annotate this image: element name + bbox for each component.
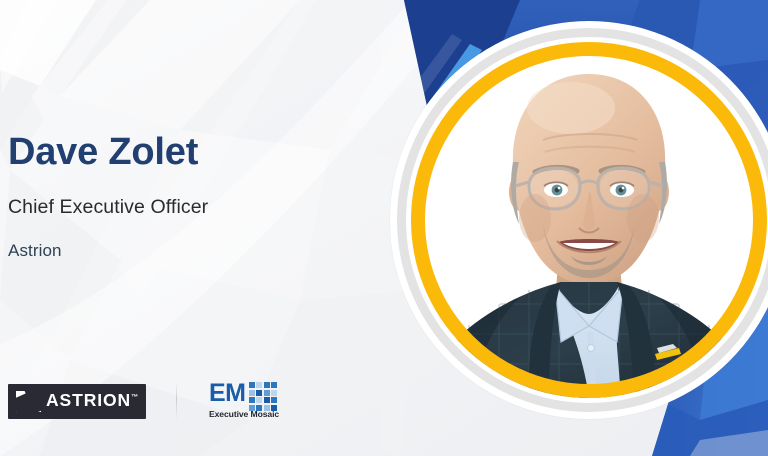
executive-spotlight-card: Dave Zolet Chief Executive Officer Astri…: [0, 0, 768, 456]
portrait-container: [388, 12, 768, 432]
astrion-logo: ASTRION™: [8, 384, 146, 419]
person-title: Chief Executive Officer: [8, 196, 398, 218]
em-mosaic-tile: [256, 397, 262, 403]
em-mosaic-tile: [271, 382, 277, 388]
em-mosaic-tile: [271, 397, 277, 403]
em-letters: EM: [209, 381, 246, 406]
em-mosaic-tile: [249, 382, 255, 388]
em-mosaic-tile: [264, 390, 270, 396]
trademark-symbol: ™: [131, 394, 138, 401]
em-mosaic-tile: [256, 390, 262, 396]
em-mosaic-tile: [264, 397, 270, 403]
logo-divider: [176, 382, 177, 420]
person-org: Astrion: [8, 241, 398, 261]
person-info-block: Dave Zolet Chief Executive Officer Astri…: [8, 132, 398, 260]
em-caption: Executive Mosaic: [209, 409, 293, 419]
em-mosaic-tile: [249, 390, 255, 396]
em-mosaic-tile: [264, 382, 270, 388]
astrion-wordmark: ASTRION™: [46, 392, 138, 410]
em-mosaic-tile: [271, 390, 277, 396]
astrion-angular-mark-icon: [16, 391, 41, 412]
page-title: Dave Zolet: [8, 132, 398, 172]
logo-row: ASTRION™ EM Executive Mosaic: [8, 381, 293, 421]
em-mosaic-grid-icon: [249, 382, 278, 411]
portrait-ring-yellow: [411, 42, 767, 398]
em-mosaic-tile: [249, 397, 255, 403]
em-mosaic-tile: [256, 382, 262, 388]
executive-mosaic-logo: EM Executive Mosaic: [209, 381, 293, 421]
